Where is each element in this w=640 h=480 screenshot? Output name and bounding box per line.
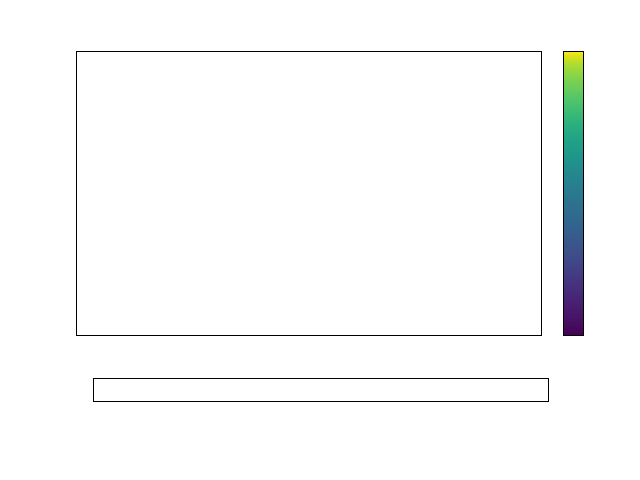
colorbar-gradient <box>564 52 583 335</box>
ppsd-plot-area[interactable] <box>76 51 542 336</box>
ppsd-figure <box>0 0 640 480</box>
timeline-axis[interactable] <box>93 378 549 402</box>
noise-model-curves <box>77 52 541 335</box>
colorbar[interactable] <box>563 51 584 336</box>
